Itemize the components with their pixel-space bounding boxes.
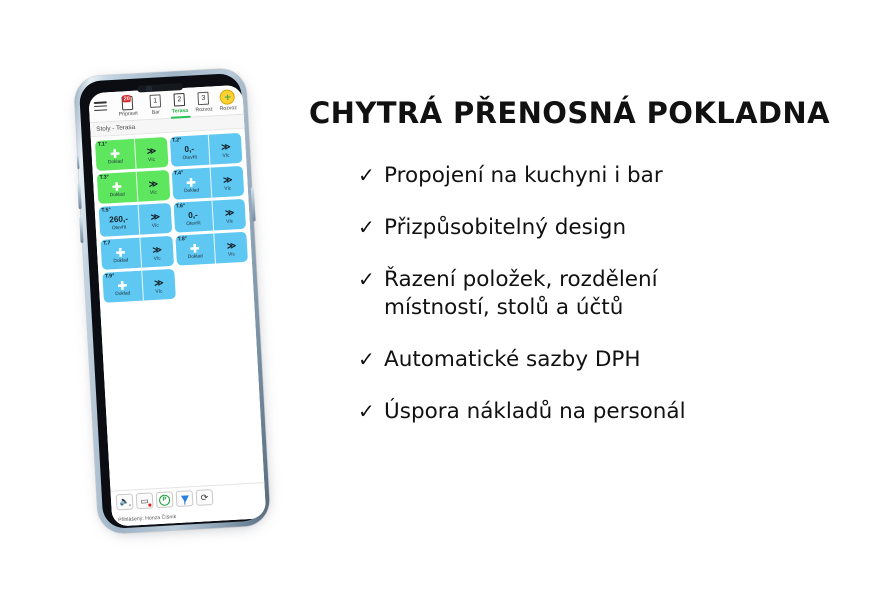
- phone-bezel: 20 Připravit 1 Bar 2: [79, 73, 266, 529]
- check-icon: ✓: [358, 266, 384, 293]
- toolbar-item-prepare[interactable]: 20 Připravit: [112, 95, 144, 117]
- plus-icon: [110, 149, 119, 158]
- prepare-badge: 20: [123, 95, 132, 102]
- table-card-action-label: Otevřít: [182, 156, 197, 162]
- table-card-amount: 0,-: [188, 210, 198, 221]
- speaker-mute-icon[interactable]: 🔈×: [116, 493, 134, 510]
- chevron-double-right-icon: ≫: [150, 213, 159, 222]
- table-card-amount: 0,-: [184, 144, 194, 155]
- table-card[interactable]: T.9°Doklad≫Víc: [102, 269, 175, 303]
- feature-item: ✓Úspora nákladů na personál: [305, 398, 865, 426]
- feature-list: ✓Propojení na kuchyni i bar✓Přizpůsobite…: [305, 162, 865, 426]
- table-card-tag: T.6°: [176, 203, 186, 210]
- silent-switch[interactable]: [76, 155, 79, 169]
- tab-terasa[interactable]: 2 Terasa: [167, 93, 192, 115]
- table-card-more-label: Víc: [148, 157, 155, 162]
- chevron-double-right-icon: ≫: [152, 246, 161, 255]
- parking-p-icon[interactable]: P: [156, 491, 174, 508]
- table-card-action-label: Doklad: [188, 254, 203, 260]
- message-icon[interactable]: ▭: [136, 492, 154, 509]
- table-card-action-label: Doklad: [110, 192, 125, 198]
- table-card-action-label: Doklad: [113, 258, 128, 264]
- clipboard-check-icon: 20: [122, 96, 134, 110]
- feature-item: ✓Propojení na kuchyni i bar: [305, 162, 865, 190]
- check-icon: ✓: [358, 162, 384, 189]
- coin-icon: [220, 90, 236, 104]
- refresh-icon[interactable]: ⟳: [196, 489, 214, 506]
- table-card-more-label: Víc: [152, 223, 159, 228]
- tab-label-terasa: Terasa: [172, 107, 189, 114]
- tab-bar[interactable]: 1 Bar: [143, 94, 168, 116]
- table-card-tag: T.9°: [105, 273, 115, 280]
- toolbar-item-delivery[interactable]: Rozvoz: [215, 90, 240, 112]
- table-card[interactable]: T.4°Doklad≫Víc: [171, 166, 244, 200]
- phone-screen: 20 Připravit 1 Bar 2: [88, 85, 266, 527]
- phone-mockup: 20 Připravit 1 Bar 2: [73, 68, 270, 535]
- table-card-more-button[interactable]: ≫Víc: [214, 232, 248, 264]
- filter-funnel-icon[interactable]: [176, 490, 194, 507]
- chevron-double-right-icon: ≫: [221, 143, 230, 152]
- table-card[interactable]: T.1°Doklad≫Víc: [95, 137, 168, 171]
- table-card-more-label: Víc: [222, 153, 229, 158]
- plus-icon: [112, 182, 121, 191]
- table-card-more-label: Víc: [224, 186, 231, 191]
- chevron-double-right-icon: ≫: [227, 242, 236, 251]
- phone-frame: 20 Připravit 1 Bar 2: [73, 68, 270, 535]
- chevron-double-right-icon: ≫: [223, 176, 232, 185]
- table-card-action-label: Otevřít: [112, 226, 127, 232]
- tab-label-bar: Bar: [152, 109, 160, 115]
- table-card-tag: T.4°: [174, 170, 184, 177]
- volume-up-button[interactable]: [77, 183, 81, 209]
- table-card-tag: T.5°: [101, 207, 111, 214]
- feature-text: Úspora nákladů na personál: [384, 398, 686, 426]
- table-card-tag: T.3°: [99, 174, 109, 181]
- toolbar-label-delivery: Rozvoz: [219, 105, 237, 112]
- tab-number-3: 3: [198, 92, 210, 106]
- table-card-more-label: Víc: [155, 289, 162, 294]
- table-card-amount: 260,-: [109, 214, 128, 225]
- table-card-tag: T.8°: [177, 236, 187, 243]
- plus-icon: [118, 281, 127, 290]
- table-card-more-button[interactable]: ≫Víc: [136, 170, 170, 202]
- table-card-more-button[interactable]: ≫Víc: [209, 133, 243, 165]
- marketing-content: CHYTRÁ PŘENOSNÁ POKLADNA ✓Propojení na k…: [305, 96, 865, 426]
- table-card-more-label: Víc: [228, 252, 235, 257]
- chevron-double-right-icon: ≫: [149, 180, 158, 189]
- feature-text: Automatické sazby DPH: [384, 346, 641, 374]
- table-card-tag: T.7: [103, 240, 111, 246]
- table-card-more-label: Víc: [154, 256, 161, 261]
- feature-text: Řazení položek, rozdělení místností, sto…: [384, 266, 658, 322]
- table-card-action-label: Otevřít: [186, 222, 201, 228]
- plus-icon: [116, 248, 125, 257]
- table-card-action-label: Doklad: [115, 291, 130, 297]
- table-card[interactable]: T.2°0,-Otevřít≫Víc: [169, 133, 242, 167]
- chevron-double-right-icon: ≫: [154, 279, 163, 288]
- feature-item: ✓Řazení položek, rozdělení místností, st…: [305, 266, 865, 322]
- tables-grid: T.1°Doklad≫VícT.2°0,-Otevřít≫VícT.3°Dokl…: [91, 129, 265, 491]
- table-card-more-label: Víc: [150, 190, 157, 195]
- table-card-tag: T.1°: [98, 141, 108, 148]
- table-card-more-button[interactable]: ≫Víc: [211, 166, 245, 198]
- table-card-more-button[interactable]: ≫Víc: [138, 203, 172, 235]
- table-card-more-button[interactable]: ≫Víc: [134, 137, 168, 169]
- feature-text: Propojení na kuchyni i bar: [384, 162, 663, 190]
- feature-text: Přizpůsobitelný design: [384, 214, 626, 242]
- table-card-more-button[interactable]: ≫Víc: [212, 199, 246, 231]
- table-card[interactable]: T.3°Doklad≫Víc: [97, 170, 170, 204]
- page-title: CHYTRÁ PŘENOSNÁ POKLADNA: [309, 96, 865, 130]
- table-card-more-button[interactable]: ≫Víc: [140, 236, 174, 268]
- chevron-double-right-icon: ≫: [225, 209, 234, 218]
- volume-down-button[interactable]: [79, 217, 83, 243]
- tab-rozvoz[interactable]: 3 Rozvoz: [191, 91, 216, 113]
- table-card-action-label: Doklad: [108, 159, 123, 165]
- plus-icon: [190, 244, 199, 253]
- tab-label-rozvoz: Rozvoz: [195, 106, 213, 113]
- tab-number-1: 1: [149, 94, 161, 108]
- feature-item: ✓Automatické sazby DPH: [305, 346, 865, 374]
- hamburger-menu-icon[interactable]: [94, 97, 110, 111]
- table-card[interactable]: T.7Doklad≫Víc: [100, 236, 173, 270]
- table-card-tag: T.2°: [172, 137, 182, 144]
- table-card-action-label: Doklad: [184, 188, 199, 194]
- table-card-more-button[interactable]: ≫Víc: [142, 269, 176, 301]
- power-button[interactable]: [251, 187, 256, 221]
- check-icon: ✓: [358, 214, 384, 241]
- tab-number-2: 2: [174, 93, 186, 107]
- toolbar-label-prepare: Připravit: [119, 110, 138, 117]
- table-card[interactable]: T.8°Doklad≫Víc: [175, 232, 248, 266]
- feature-item: ✓Přizpůsobitelný design: [305, 214, 865, 242]
- check-icon: ✓: [358, 346, 384, 373]
- plus-icon: [186, 178, 195, 187]
- table-card[interactable]: T.5°260,-Otevřít≫Víc: [99, 203, 172, 237]
- table-card[interactable]: T.6°0,-Otevřít≫Víc: [173, 199, 246, 233]
- pos-app: 20 Připravit 1 Bar 2: [88, 85, 266, 527]
- chevron-double-right-icon: ≫: [147, 147, 156, 156]
- check-icon: ✓: [358, 398, 384, 425]
- table-card-more-label: Víc: [226, 219, 233, 224]
